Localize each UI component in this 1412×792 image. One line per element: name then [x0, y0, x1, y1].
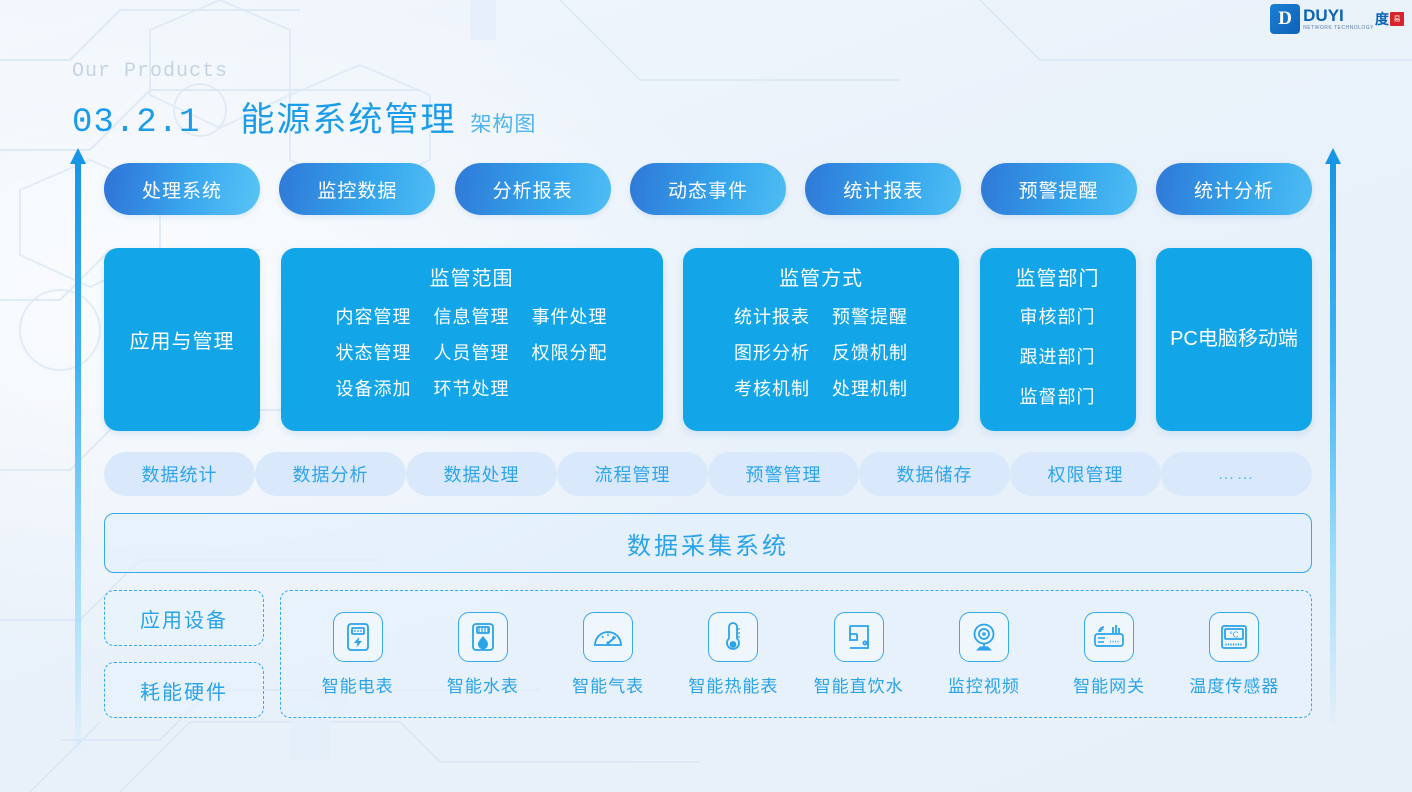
logo-mark-icon: D: [1270, 4, 1300, 34]
device-label: 智能网关: [1073, 672, 1145, 697]
device-item[interactable]: 智能网关: [1057, 612, 1161, 697]
device-list: 智能电表 智能水表 智能气表: [280, 590, 1312, 718]
top-pill-2[interactable]: 分析报表: [455, 163, 611, 215]
category-column: 应用设备 耗能硬件: [104, 590, 264, 718]
panel-supervision-department[interactable]: 监管部门 审核部门 跟进部门 监督部门: [980, 248, 1136, 431]
device-item[interactable]: 智能热能表: [681, 612, 785, 697]
section-number: 03.2.1: [72, 104, 200, 142]
light-pill-5[interactable]: 数据储存: [859, 452, 1010, 496]
svg-text:°C: °C: [1230, 630, 1239, 639]
logo-seal-icon: 易: [1390, 12, 1404, 26]
panel-supervision-scope[interactable]: 监管范围 内容管理 信息管理 事件处理 状态管理 人员管理 权限分配 设备添加 …: [281, 248, 663, 431]
thermometer-icon: [708, 612, 758, 662]
panel-title: 应用与管理: [130, 325, 235, 354]
arrow-shaft: [75, 162, 81, 752]
top-pill-4[interactable]: 统计报表: [805, 163, 961, 215]
electric-meter-icon: [333, 612, 383, 662]
data-collection-system-label: 数据采集系统: [627, 526, 789, 561]
panel-item[interactable]: 跟进部门: [1020, 343, 1096, 369]
panel-item[interactable]: 审核部门: [1020, 303, 1096, 329]
device-label: 智能直饮水: [814, 672, 904, 697]
top-pill-3[interactable]: 动态事件: [630, 163, 786, 215]
device-item[interactable]: 监控视频: [932, 612, 1036, 697]
light-pill-0[interactable]: 数据统计: [104, 452, 255, 496]
panel-title: 监管范围: [430, 262, 514, 291]
device-item[interactable]: 智能气表: [556, 612, 660, 697]
arrow-shaft: [1330, 162, 1336, 727]
panel-title: PC电脑移动端: [1160, 326, 1308, 353]
panel-item[interactable]: 人员管理: [434, 339, 510, 365]
router-gateway-icon: [1084, 612, 1134, 662]
panel-title: 监管方式: [779, 262, 863, 291]
panel-item[interactable]: 反馈机制: [832, 339, 908, 365]
category-application-device[interactable]: 应用设备: [104, 590, 264, 646]
water-meter-icon: [458, 612, 508, 662]
panel-item-grid: 审核部门 跟进部门 监督部门: [1020, 303, 1096, 409]
panel-item[interactable]: 图形分析: [734, 339, 810, 365]
light-pill-6[interactable]: 权限管理: [1010, 452, 1161, 496]
page-header: Our Products 03.2.1 能源系统管理 架构图: [72, 62, 536, 142]
panel-item[interactable]: 状态管理: [336, 339, 412, 365]
top-pill-5[interactable]: 预警提醒: [981, 163, 1137, 215]
water-dispenser-icon: [834, 612, 884, 662]
light-pill-row: 数据统计 数据分析 数据处理 流程管理 预警管理 数据储存 权限管理 ……: [104, 452, 1312, 496]
device-label: 智能气表: [572, 672, 644, 697]
panel-item[interactable]: 考核机制: [734, 375, 810, 401]
light-pill-more[interactable]: ……: [1161, 452, 1312, 496]
device-label: 监控视频: [948, 672, 1020, 697]
light-pill-4[interactable]: 预警管理: [708, 452, 859, 496]
logo-chinese-char: 度: [1375, 9, 1389, 29]
panel-item[interactable]: 统计报表: [734, 303, 810, 329]
bottom-section: 应用设备 耗能硬件 智能电表: [104, 590, 1312, 718]
device-item[interactable]: 智能直饮水: [807, 612, 911, 697]
panel-item[interactable]: 处理机制: [832, 375, 908, 401]
header-eyebrow: Our Products: [72, 62, 536, 82]
cctv-camera-icon: [959, 612, 1009, 662]
panel-item[interactable]: 权限分配: [532, 339, 608, 365]
category-energy-hardware[interactable]: 耗能硬件: [104, 662, 264, 718]
device-item[interactable]: °C 温度传感器: [1182, 612, 1286, 697]
panel-item[interactable]: 内容管理: [336, 303, 412, 329]
page-subtitle: 架构图: [470, 108, 536, 138]
panel-application-management[interactable]: 应用与管理: [104, 248, 260, 431]
page-title: 能源系统管理: [240, 92, 456, 141]
panel-item-grid: 内容管理 信息管理 事件处理 状态管理 人员管理 权限分配 设备添加 环节处理: [336, 303, 608, 401]
logo-text: DUYI NETWORK TECHNOLOGY: [1303, 7, 1374, 31]
panel-item-grid: 统计报表 预警提醒 图形分析 反馈机制 考核机制 处理机制: [734, 303, 908, 401]
device-label: 智能电表: [322, 672, 394, 697]
top-pill-6[interactable]: 统计分析: [1156, 163, 1312, 215]
light-pill-2[interactable]: 数据处理: [406, 452, 557, 496]
panel-item[interactable]: 环节处理: [434, 375, 510, 401]
temperature-sensor-icon: °C: [1209, 612, 1259, 662]
panel-item[interactable]: 监督部门: [1020, 383, 1096, 409]
device-item[interactable]: 智能水表: [431, 612, 535, 697]
panel-supervision-method[interactable]: 监管方式 统计报表 预警提醒 图形分析 反馈机制 考核机制 处理机制: [683, 248, 959, 431]
device-item[interactable]: 智能电表: [306, 612, 410, 697]
company-logo: D DUYI NETWORK TECHNOLOGY 度 易: [1270, 4, 1404, 34]
panel-item[interactable]: 信息管理: [434, 303, 510, 329]
panel-title: 监管部门: [1016, 262, 1100, 291]
main-panel-row: 应用与管理 监管范围 内容管理 信息管理 事件处理 状态管理 人员管理 权限分配…: [104, 248, 1312, 431]
logo-tagline: NETWORK TECHNOLOGY: [1303, 26, 1374, 31]
device-label: 温度传感器: [1189, 672, 1279, 697]
device-label: 智能水表: [447, 672, 519, 697]
panel-item[interactable]: 设备添加: [336, 375, 412, 401]
logo-name: DUYI: [1303, 7, 1374, 24]
panel-item[interactable]: 预警提醒: [832, 303, 908, 329]
title-row: 03.2.1 能源系统管理 架构图: [72, 92, 536, 142]
device-label: 智能热能表: [688, 672, 778, 697]
top-pill-1[interactable]: 监控数据: [279, 163, 435, 215]
panel-pc-mobile-terminal[interactable]: PC电脑移动端: [1156, 248, 1312, 431]
light-pill-3[interactable]: 流程管理: [557, 452, 708, 496]
top-pill-0[interactable]: 处理系统: [104, 163, 260, 215]
panel-item[interactable]: 事件处理: [532, 303, 608, 329]
top-pill-row: 处理系统 监控数据 分析报表 动态事件 统计报表 预警提醒 统计分析: [104, 163, 1312, 215]
data-collection-system-bar[interactable]: 数据采集系统: [104, 513, 1312, 573]
light-pill-1[interactable]: 数据分析: [255, 452, 406, 496]
gas-meter-gauge-icon: [583, 612, 633, 662]
